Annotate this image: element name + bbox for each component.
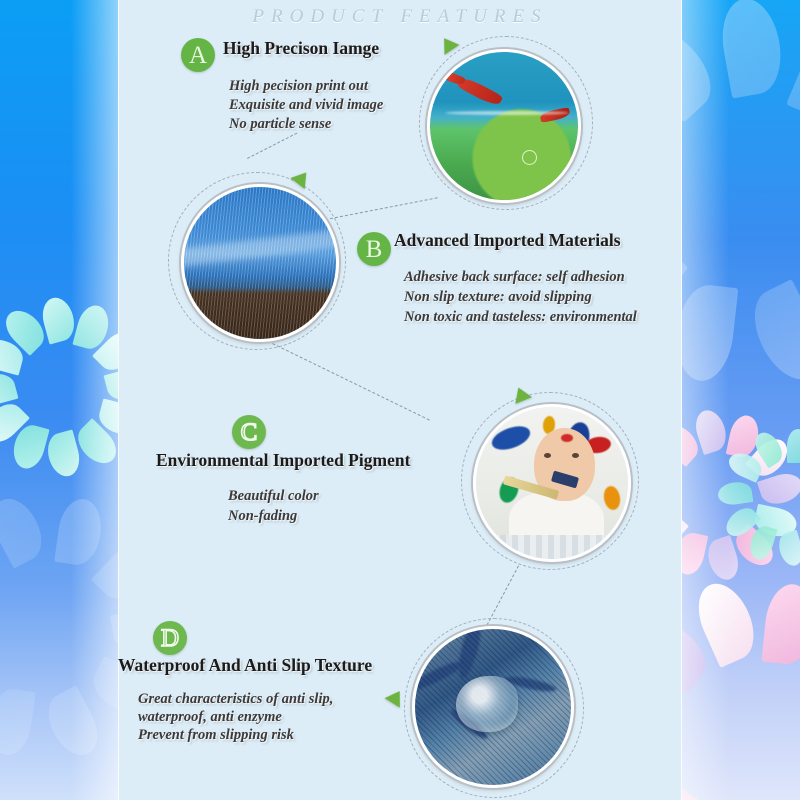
heading-c: Environmental Imported Pigment: [156, 450, 410, 471]
paper-floor: [476, 535, 628, 559]
badge-a: A: [181, 38, 215, 72]
badge-b: B: [357, 232, 391, 266]
water-ripple: [522, 150, 537, 165]
badge-b-letter: B: [366, 237, 383, 262]
water-drop-photo-image: [415, 629, 571, 785]
koi-fish-2: [438, 68, 465, 86]
paint-splatter-blue: [489, 422, 533, 454]
content-panel: [118, 0, 682, 800]
right-decoration-band: [682, 0, 800, 800]
heading-d: Waterproof And Anti Slip Texture: [118, 655, 372, 676]
body-c-line-2: Non-fading: [228, 507, 297, 525]
heading-a: High Precison Iamge: [223, 38, 379, 59]
badge-d: D: [153, 621, 187, 655]
paint-splatter-orange: [602, 485, 622, 511]
page-title: PRODUCT FEATURES: [0, 6, 800, 28]
badge-c: C: [232, 415, 266, 449]
body-d-line-1: Great characteristics of anti slip,: [138, 690, 333, 708]
baby-photo-image: [476, 407, 628, 559]
band-fade-right: [682, 0, 800, 800]
water-droplet: [456, 676, 518, 732]
product-features-infographic: PRODUCT FEATURES A High Precison Iamge H…: [0, 0, 800, 800]
body-b-line-2: Non slip texture: avoid slipping: [404, 288, 592, 306]
badge-d-letter: D: [161, 626, 179, 651]
baby-eye-right: [572, 453, 579, 458]
water-drop-texture-photo: [412, 626, 574, 788]
body-a-line-2: Exquisite and vivid image: [229, 96, 383, 114]
baby-eye-left: [544, 453, 551, 458]
body-b-line-3: Non toxic and tasteless: environmental: [404, 308, 637, 326]
body-a-line-1: High pecision print out: [229, 77, 368, 95]
fabric-photo-image: [184, 187, 336, 339]
heading-b: Advanced Imported Materials: [394, 230, 621, 251]
koi-photo-image: [430, 52, 578, 200]
panel-border: [118, 0, 682, 800]
body-a-line-3: No particle sense: [229, 115, 331, 133]
koi-fish-3: [539, 107, 570, 123]
body-d-line-2: waterproof, anti enzyme: [138, 708, 282, 726]
blue-fabric-material-photo: [181, 184, 339, 342]
body-b-line-1: Adhesive back surface: self adhesion: [404, 268, 625, 286]
band-fade-left: [0, 0, 118, 800]
koi-fish-print-photo: [427, 49, 581, 203]
baby-painting-photo: [473, 404, 631, 562]
body-c-line-1: Beautiful color: [228, 487, 319, 505]
body-d-line-3: Prevent from slipping risk: [138, 726, 294, 744]
left-decoration-band: [0, 0, 118, 800]
badge-c-letter: C: [241, 420, 258, 445]
badge-a-letter: A: [189, 43, 207, 68]
